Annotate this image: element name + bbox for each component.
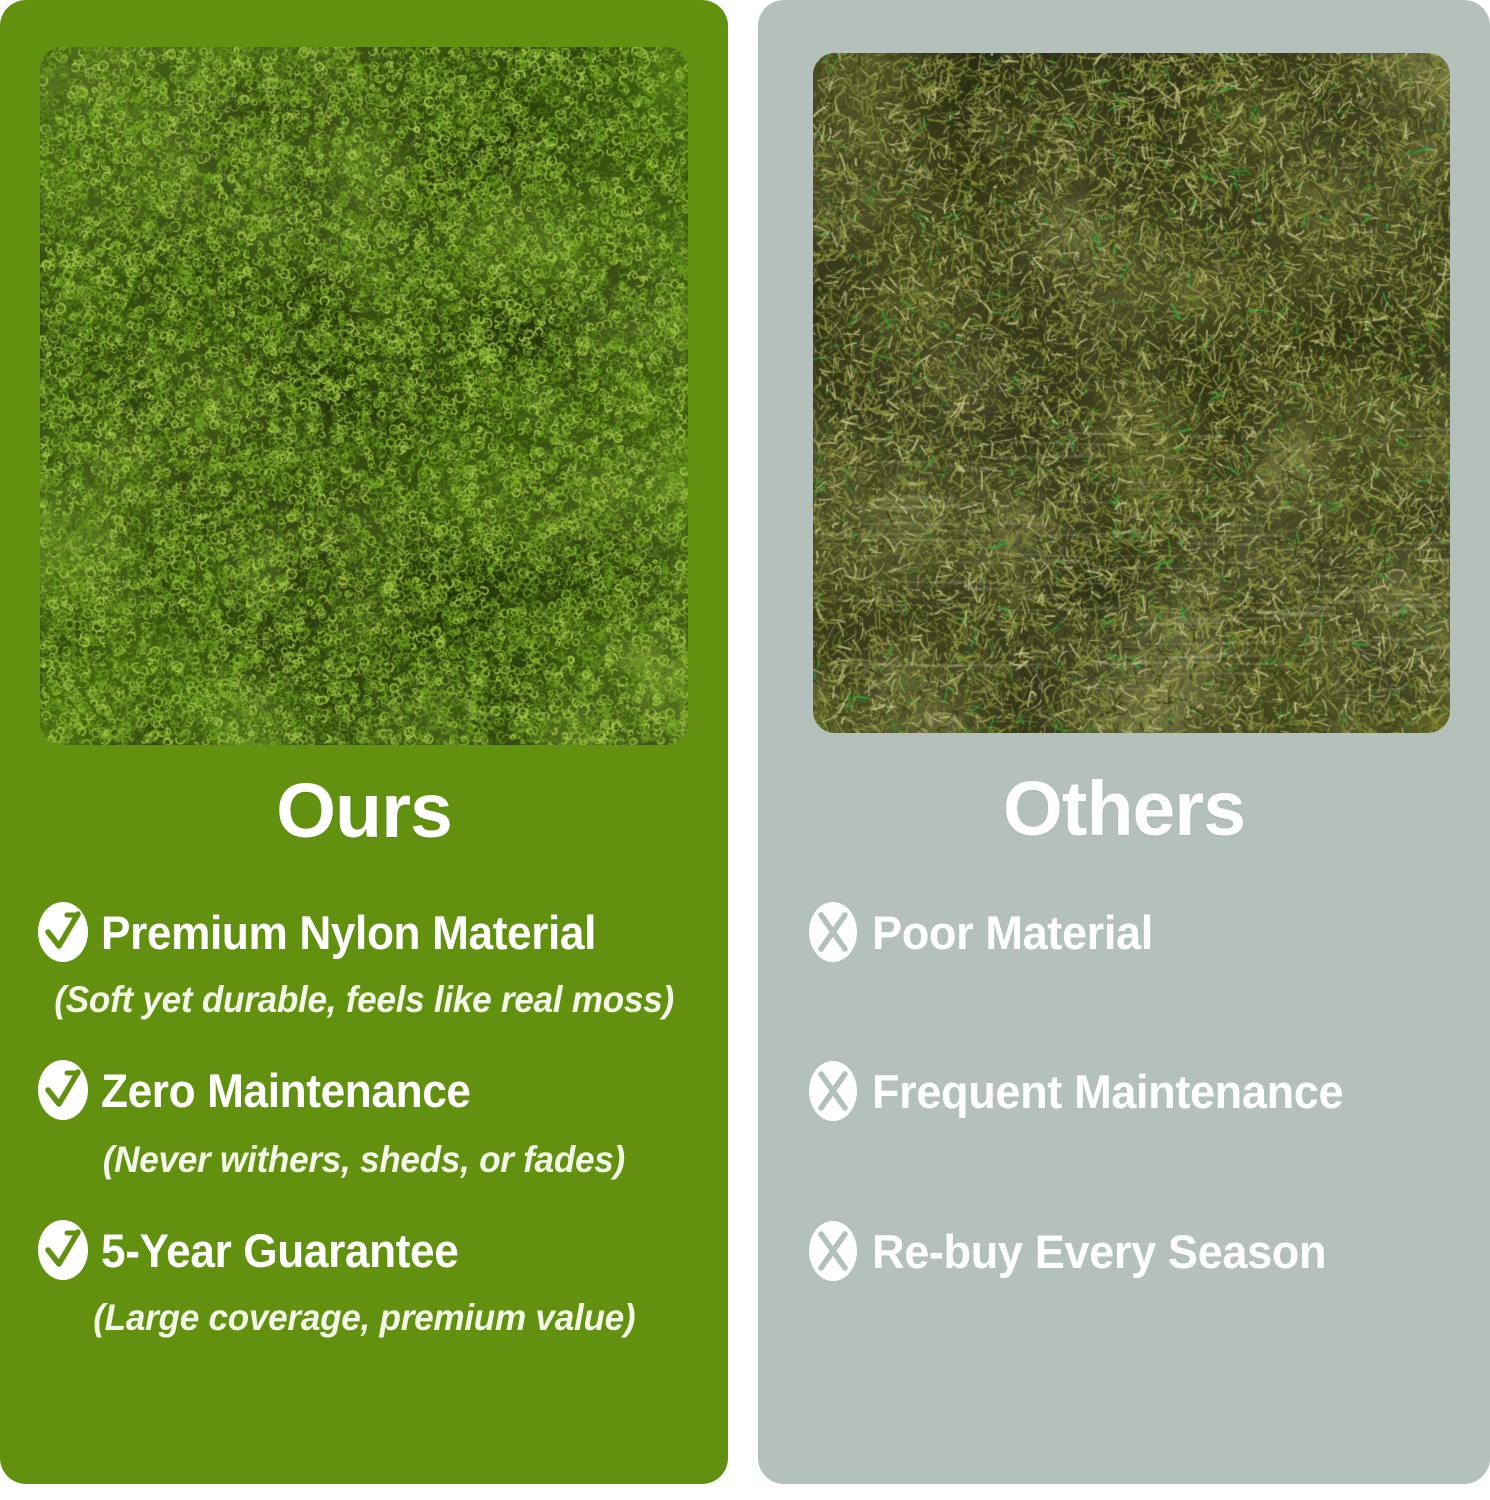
ours-heading: Ours (0, 773, 728, 850)
ours-panel: Ours Premium Nylon Material (Soft yet du… (0, 0, 728, 1484)
cross-mark-icon (808, 1060, 858, 1122)
ours-feature-row-1: Premium Nylon Material (37, 901, 628, 963)
ours-feature-note-3: (Large coverage, premium value) (0, 1299, 728, 1336)
others-feature-row-3: Re-buy Every Season (808, 1220, 1345, 1282)
comparison-infographic: Ours Premium Nylon Material (Soft yet du… (0, 0, 1490, 1500)
ours-product-photo (40, 47, 688, 745)
check-mark-icon (37, 901, 89, 963)
others-feature-label-2: Frequent Maintenance (872, 1068, 1343, 1115)
ours-feature-label-1: Premium Nylon Material (101, 909, 596, 956)
others-feature-row-1: Poor Material (808, 901, 1165, 963)
ours-feature-row-3: 5-Year Guarantee (37, 1219, 481, 1281)
ours-feature-note-2: (Never withers, sheds, or fades) (0, 1141, 728, 1178)
check-mark-icon (37, 1219, 89, 1281)
others-product-photo (813, 53, 1450, 733)
ours-feature-label-3: 5-Year Guarantee (101, 1227, 458, 1274)
ours-feature-note-1: (Soft yet durable, feels like real moss) (0, 981, 728, 1018)
cross-mark-icon (808, 1220, 858, 1282)
cross-mark-icon (808, 901, 858, 963)
others-feature-label-1: Poor Material (872, 909, 1153, 956)
others-feature-row-2: Frequent Maintenance (808, 1060, 1363, 1122)
ours-feature-row-2: Zero Maintenance (37, 1059, 494, 1121)
check-mark-icon (37, 1059, 89, 1121)
others-feature-label-3: Re-buy Every Season (872, 1228, 1326, 1275)
ours-feature-label-2: Zero Maintenance (101, 1067, 471, 1114)
others-heading: Others (758, 771, 1490, 848)
